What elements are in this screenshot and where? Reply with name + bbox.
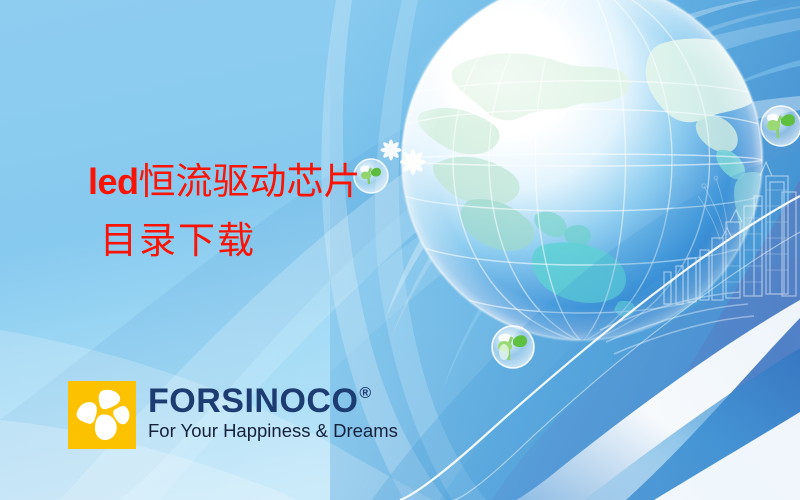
four-petal-pinwheel-icon xyxy=(68,381,136,449)
logo-wordmark: FORSINOCO® For Your Happiness & Dreams xyxy=(148,381,398,442)
eight-petal-flower-icon xyxy=(381,140,402,161)
headline: led恒流驱动芯片 目录下载 xyxy=(88,164,361,260)
headline-line-2: 目录下载 xyxy=(100,223,361,260)
green-sprout-bubble-icon xyxy=(761,106,800,146)
headline-latin: led xyxy=(88,161,139,202)
registered-mark-icon: ® xyxy=(359,386,371,402)
promo-banner: led恒流驱动芯片 目录下载 FORSINOCO® For Your Happi… xyxy=(0,0,800,500)
logo-tagline: For Your Happiness & Dreams xyxy=(148,420,398,442)
headline-line-1: led恒流驱动芯片 xyxy=(88,164,361,201)
headline-cjk: 恒流驱动芯片 xyxy=(139,162,361,203)
logo-name-text: FORSINOCO xyxy=(148,385,358,417)
eight-petal-flower-icon xyxy=(400,149,426,175)
logo-name: FORSINOCO® xyxy=(148,385,398,417)
brand-logo: FORSINOCO® For Your Happiness & Dreams xyxy=(68,381,398,449)
green-sprout-bubble-icon xyxy=(492,326,534,368)
